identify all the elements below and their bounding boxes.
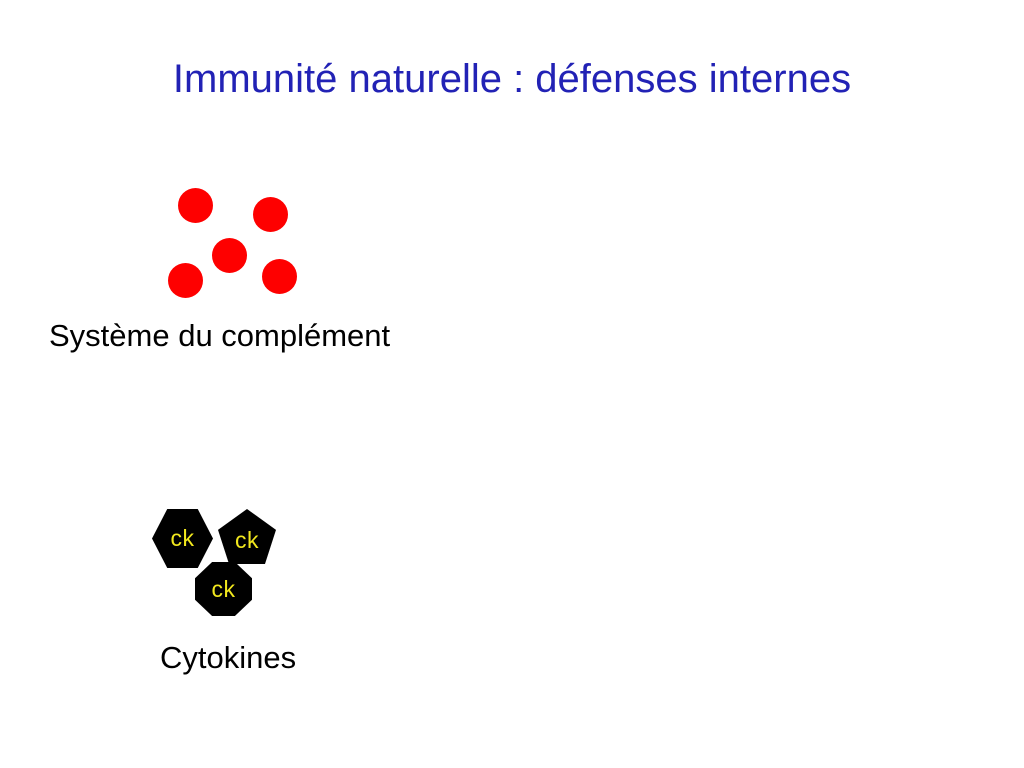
complement-dot-4 xyxy=(168,263,203,298)
cytokines-label: Cytokines xyxy=(160,640,296,676)
complement-dot-5 xyxy=(262,259,297,294)
complement-system-group xyxy=(0,0,1024,768)
complement-system-label: Système du complément xyxy=(49,318,390,354)
cytokine-pentagon-label: ck xyxy=(235,529,259,552)
cytokine-hexagon-label: ck xyxy=(171,527,195,550)
cytokine-hexagon-icon: ck xyxy=(152,509,213,568)
complement-dot-1 xyxy=(178,188,213,223)
cytokine-pentagon-icon: ck xyxy=(218,509,276,564)
complement-dot-2 xyxy=(253,197,288,232)
slide-canvas: Immunité naturelle : défenses internes S… xyxy=(0,0,1024,768)
cytokine-group: ck ck ck xyxy=(0,0,1024,768)
page-title: Immunité naturelle : défenses internes xyxy=(0,55,1024,103)
cytokine-octagon-icon: ck xyxy=(195,562,252,616)
complement-dot-3 xyxy=(212,238,247,273)
cytokine-octagon-label: ck xyxy=(212,578,236,601)
